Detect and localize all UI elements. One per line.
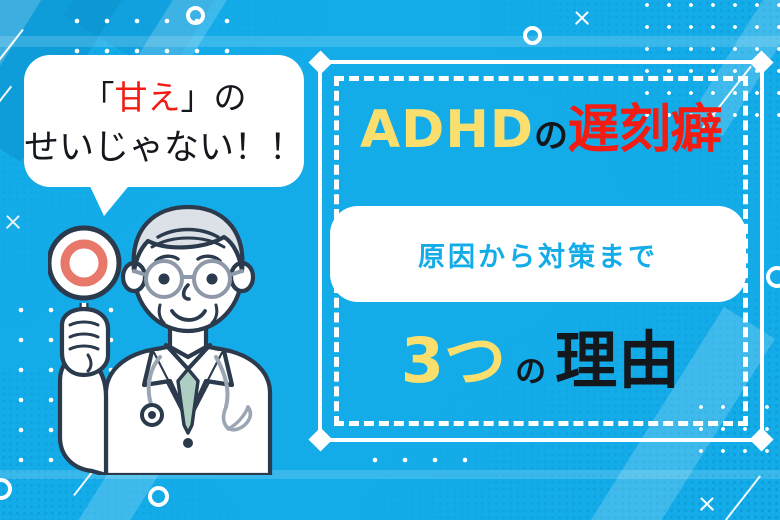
dot-grid-bottom — [360, 445, 490, 475]
speech-keyword: 甘え — [115, 78, 181, 117]
circle-ring-icon — [186, 6, 205, 25]
x-mark-icon — [4, 213, 22, 231]
subtitle-text: 原因から対策まで — [418, 235, 658, 274]
poster-canvas: ADHDの遅刻癖 原因から対策まで 3つの理由 「甘え」の せいじゃない！！ — [0, 0, 780, 520]
bottom-headline: 3つの理由 — [318, 330, 764, 392]
speech-bubble-line-2: せいじゃない！！ — [24, 119, 304, 170]
x-mark-icon — [698, 495, 716, 513]
headline-keyword: 遅刻癖 — [568, 100, 723, 160]
headline: ADHDの遅刻癖 — [318, 104, 764, 156]
headline-particle: の — [534, 116, 568, 156]
speech-open-quote: 「 — [82, 78, 115, 117]
doctor-illustration — [48, 185, 288, 475]
speech-close-quote: 」の — [181, 78, 247, 117]
headline-adhd: ADHD — [360, 100, 534, 160]
x-mark-icon — [573, 9, 591, 27]
circle-ring-icon — [148, 486, 169, 507]
circle-ring-icon — [523, 26, 542, 45]
bottom-particle: の — [515, 354, 546, 390]
speech-bubble: 「甘え」の せいじゃない！！ — [24, 55, 304, 187]
subtitle-banner: 原因から対策まで — [330, 206, 746, 302]
speech-bubble-line-1: 「甘え」の — [24, 71, 304, 119]
bottom-count: 3つ — [401, 324, 506, 397]
bottom-noun: 理由 — [555, 324, 681, 397]
